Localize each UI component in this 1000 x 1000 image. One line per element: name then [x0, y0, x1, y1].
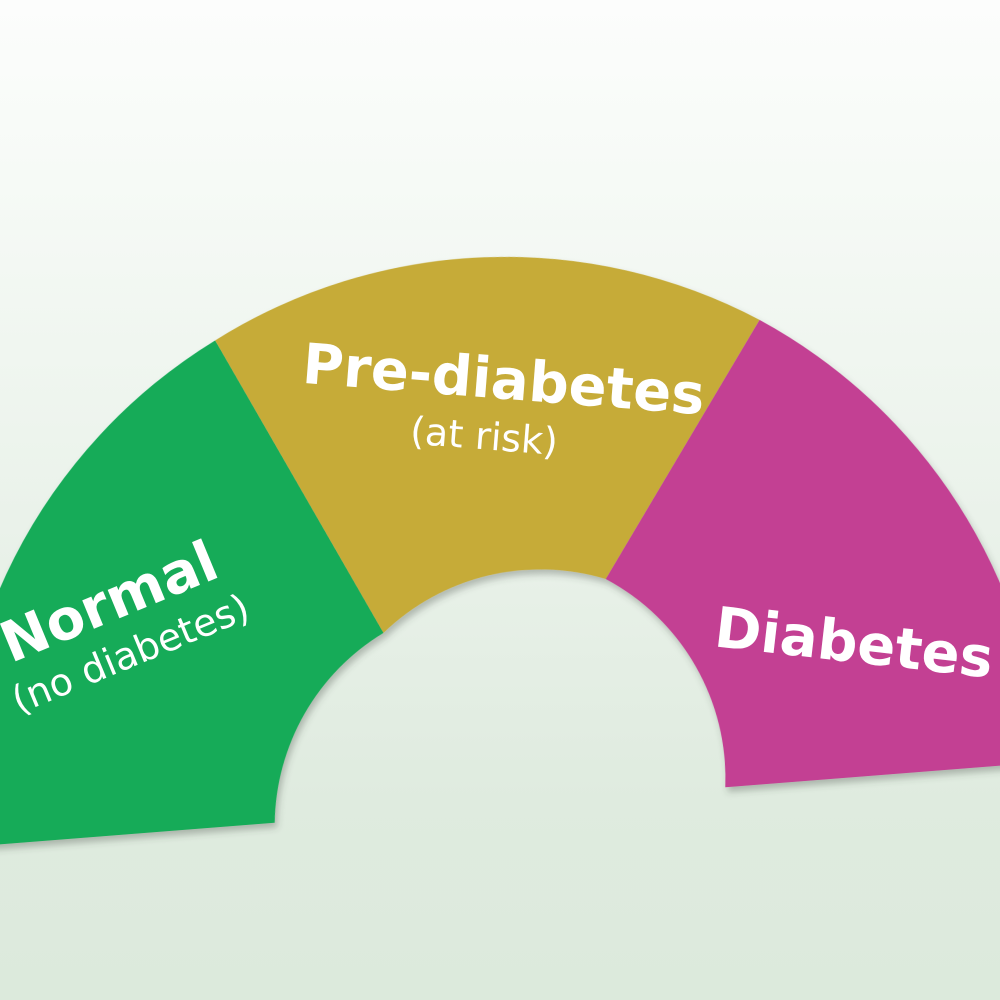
diabetes-risk-gauge-chart: Normal (no diabetes) Pre-diabetes (at ri…	[0, 0, 1000, 1000]
diagram-canvas: Normal (no diabetes) Pre-diabetes (at ri…	[0, 0, 1000, 1000]
gauge-rotation-group: Normal (no diabetes) Pre-diabetes (at ri…	[0, 216, 1000, 848]
gauge-segments-group	[0, 216, 1000, 848]
